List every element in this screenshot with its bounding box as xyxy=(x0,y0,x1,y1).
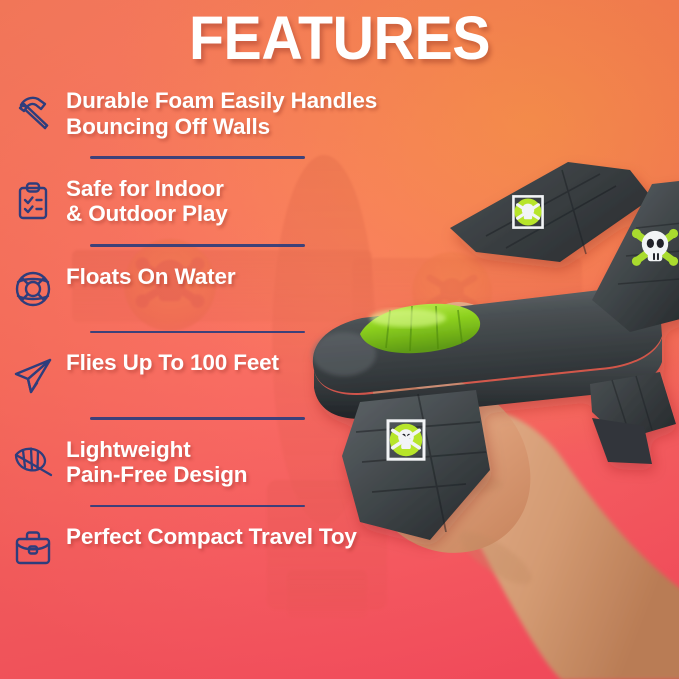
feature-list: Durable Foam Easily Handles Bouncing Off… xyxy=(0,88,420,574)
clipboard-check-icon xyxy=(0,176,66,222)
paper-plane-icon xyxy=(0,350,66,398)
life-ring-icon xyxy=(0,264,66,310)
page-title: FEATURES xyxy=(20,6,658,72)
feature-separator xyxy=(90,331,305,334)
feature-label: Flies Up To 100 Feet xyxy=(66,350,287,376)
feature-item-safe-play: Safe for Indoor & Outdoor Play xyxy=(0,176,420,227)
feature-item-lightweight: Lightweight Pain-Free Design xyxy=(0,437,420,488)
feature-separator xyxy=(90,505,305,508)
feather-icon xyxy=(0,437,66,481)
hammer-icon xyxy=(0,88,66,134)
feature-item-flies-100-feet: Flies Up To 100 Feet xyxy=(0,350,420,400)
feature-separator xyxy=(90,244,305,247)
feature-separator xyxy=(90,417,305,420)
feature-item-travel-toy: Perfect Compact Travel Toy xyxy=(0,524,420,574)
feature-separator xyxy=(90,156,305,159)
feature-label: Perfect Compact Travel Toy xyxy=(66,524,365,550)
briefcase-icon xyxy=(0,524,66,568)
feature-label: Lightweight Pain-Free Design xyxy=(66,437,255,488)
feature-label: Safe for Indoor & Outdoor Play xyxy=(66,176,236,227)
feature-label: Durable Foam Easily Handles Bouncing Off… xyxy=(66,88,385,139)
feature-label: Floats On Water xyxy=(66,264,243,290)
feature-item-floats: Floats On Water xyxy=(0,264,420,314)
feature-item-durable-foam: Durable Foam Easily Handles Bouncing Off… xyxy=(0,88,420,139)
